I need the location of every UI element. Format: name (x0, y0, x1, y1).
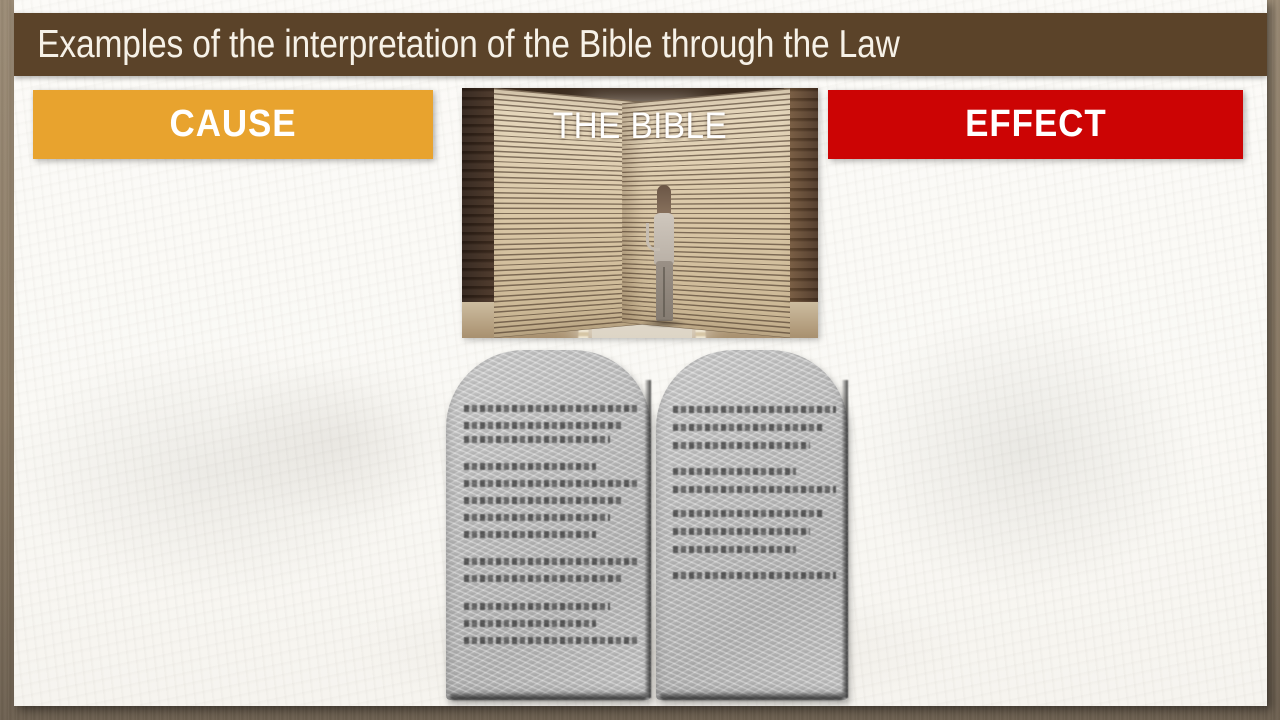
figure-shadow (641, 319, 687, 328)
page-title: Examples of the interpretation of the Bi… (14, 25, 900, 64)
tablet-engraving-line (464, 480, 638, 487)
tablet-engraving-line (673, 528, 809, 535)
tablet-engraving-line (464, 620, 595, 627)
tablet-engraving-line (464, 575, 624, 582)
tablet-engraving-line (673, 468, 796, 475)
ten-commandments-tablets-image (434, 350, 854, 702)
open-bible-photo: THE BIBLE (462, 88, 818, 338)
the-bible-overlay-label: THE BIBLE (480, 105, 800, 147)
woman-silhouette-figure (647, 185, 681, 325)
slide-canvas: Examples of the interpretation of the Bi… (14, 0, 1267, 706)
tablet-engraving-line (464, 405, 638, 412)
tablet-engraving-line (464, 637, 638, 644)
tablet-engraving-line (464, 422, 624, 429)
tablet-engraving-line (464, 558, 638, 565)
tablet-engraving-line (464, 514, 610, 521)
tablet-engraving-line (673, 510, 823, 517)
tablet-engraving-line (464, 436, 610, 443)
effect-label: EFFECT (965, 103, 1106, 146)
tablet-engraving-line (673, 546, 796, 553)
stone-tablet-left (446, 350, 651, 700)
tablet-right-base-shadow (660, 693, 844, 700)
cause-header-box[interactable]: CAUSE (33, 90, 433, 159)
stone-tablet-right (656, 350, 848, 700)
tablet-engraving-line (673, 486, 836, 493)
slide-root: Examples of the interpretation of the Bi… (0, 0, 1280, 720)
tablet-engraving-line (673, 406, 836, 413)
tablet-right-edge-shadow (842, 380, 848, 698)
cause-label: CAUSE (170, 103, 297, 146)
tablet-engraving-line (464, 603, 610, 610)
tablet-engraving-line (464, 497, 624, 504)
tablet-left-base-shadow (450, 693, 647, 700)
figure-legs (656, 261, 673, 321)
tablet-engraving-line (673, 572, 836, 579)
tablet-engraving-line (673, 442, 809, 449)
slide-title-banner: Examples of the interpretation of the Bi… (14, 13, 1267, 76)
effect-header-box[interactable]: EFFECT (828, 90, 1243, 159)
tablet-engraving-line (464, 463, 595, 470)
tablet-engraving-line (673, 424, 823, 431)
figure-arm (646, 223, 660, 251)
tablet-left-edge-shadow (645, 380, 651, 698)
tablet-engraving-line (464, 531, 595, 538)
